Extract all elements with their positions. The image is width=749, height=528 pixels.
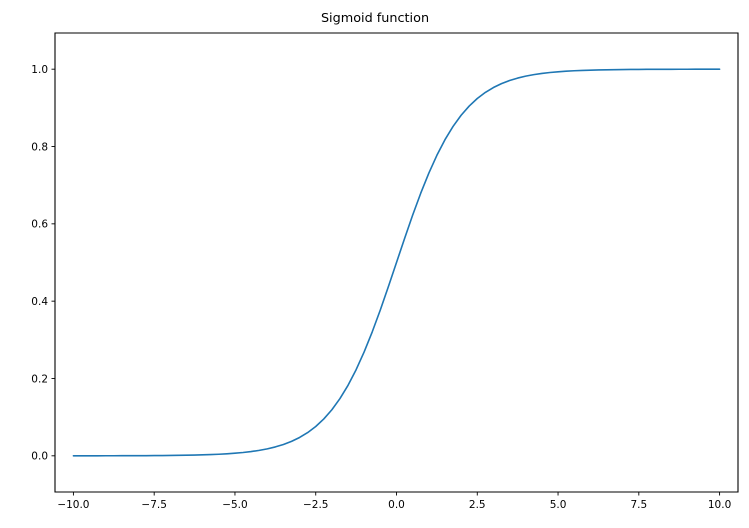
y-tick-label: 0.6 (31, 219, 48, 231)
x-tick-label: −10.0 (57, 499, 89, 511)
x-axis-tick-labels: −10.0−7.5−5.0−2.50.02.55.07.510.0 (57, 499, 731, 511)
chart-title: Sigmoid function (321, 11, 429, 26)
y-tick-label: 0.2 (31, 373, 48, 385)
y-tick-label: 0.0 (31, 451, 48, 463)
sigmoid-line-chart: Sigmoid function −10.0−7.5−5.0−2.50.02.5… (0, 0, 749, 528)
y-tick-label: 0.4 (31, 296, 48, 308)
y-tick-label: 1.0 (31, 64, 48, 76)
x-tick-label: 2.5 (469, 499, 486, 511)
x-tick-label: 5.0 (550, 499, 567, 511)
y-tick-label: 0.8 (31, 141, 48, 153)
x-tick-label: 0.0 (388, 499, 405, 511)
x-tick-label: −5.0 (222, 499, 248, 511)
x-tick-label: 7.5 (630, 499, 647, 511)
matplotlib-figure: Sigmoid function −10.0−7.5−5.0−2.50.02.5… (0, 0, 749, 528)
x-tick-label: −2.5 (303, 499, 329, 511)
x-tick-label: −7.5 (141, 499, 167, 511)
x-tick-label: 10.0 (708, 499, 731, 511)
